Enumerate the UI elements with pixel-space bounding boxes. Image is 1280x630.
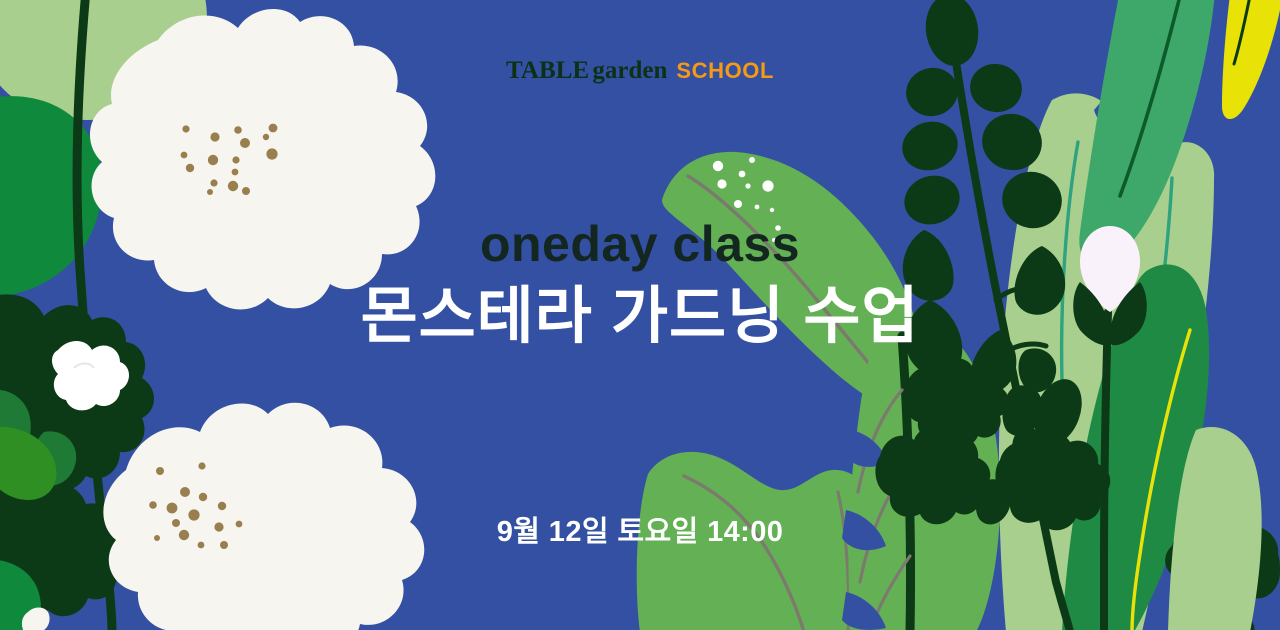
- headline-korean: 몬스테라 가드닝 수업: [0, 280, 1280, 354]
- poster-canvas: TABLEgardenSCHOOL oneday class 몬스테라 가드닝 …: [0, 0, 1280, 630]
- schedule-text: 9월 12일 토요일 14:00: [0, 508, 1280, 550]
- brand-logo[interactable]: TABLEgardenSCHOOL: [0, 58, 1280, 83]
- logo-word-garden: garden: [592, 57, 667, 84]
- logo-word-school: SCHOOL: [676, 58, 774, 83]
- headline-english: oneday class: [0, 216, 1280, 274]
- logo-word-table: TABLE: [506, 57, 589, 84]
